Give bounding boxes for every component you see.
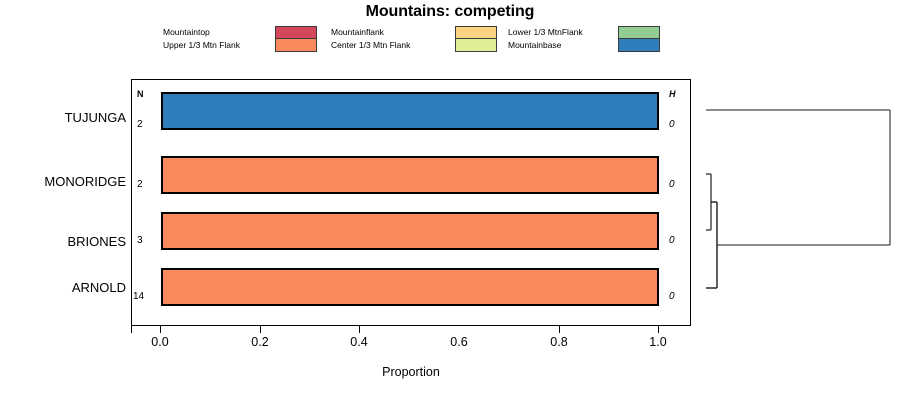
x-axis-tick-label: 0.2 xyxy=(230,335,290,349)
h-value-arnold: 0 xyxy=(669,291,675,302)
x-axis-tick xyxy=(359,326,360,333)
legend-swatch-group xyxy=(455,26,497,52)
h-value-briones: 0 xyxy=(669,235,675,246)
bar-row-briones xyxy=(132,212,692,250)
bar-arnold[interactable] xyxy=(161,268,659,306)
h-value-tujunga: 0 xyxy=(669,119,675,130)
h-column-header: H xyxy=(669,89,676,99)
x-axis-tick-label: 0.4 xyxy=(329,335,389,349)
h-value-monoridge: 0 xyxy=(669,179,675,190)
legend-swatch-mountaintop xyxy=(276,27,316,39)
legend-item-label: Mountainbase xyxy=(508,39,583,52)
legend-group: Mountaintop Upper 1/3 Mtn Flank xyxy=(163,26,323,56)
legend-item-label: Mountaintop xyxy=(163,26,240,39)
category-label-tujunga: TUJUNGA xyxy=(4,110,126,125)
category-label-arnold: ARNOLD xyxy=(4,280,126,295)
legend-item-label: Lower 1/3 MtnFlank xyxy=(508,26,583,39)
legend-group-labels: Mountaintop Upper 1/3 Mtn Flank xyxy=(163,26,240,52)
legend: Mountaintop Upper 1/3 Mtn Flank Mountain… xyxy=(163,26,683,58)
n-value-briones: 3 xyxy=(137,235,143,246)
legend-item-label: Center 1/3 Mtn Flank xyxy=(331,39,410,52)
legend-item-label: Mountainflank xyxy=(331,26,410,39)
x-axis-tick xyxy=(658,326,659,333)
page-title: Mountains: competing xyxy=(0,3,900,21)
bar-briones[interactable] xyxy=(161,212,659,250)
x-axis-tick xyxy=(260,326,261,333)
bar-row-monoridge xyxy=(132,156,692,194)
n-value-arnold: 14 xyxy=(133,291,144,302)
n-value-monoridge: 2 xyxy=(137,179,143,190)
x-axis-tick-label: 0.8 xyxy=(529,335,589,349)
legend-swatch-upper-third-mtn-flank xyxy=(276,39,316,51)
x-axis-tick-label: 1.0 xyxy=(628,335,688,349)
x-axis-tick-label: 0.0 xyxy=(130,335,190,349)
bar-row-arnold xyxy=(132,268,692,306)
n-value-tujunga: 2 xyxy=(137,119,143,130)
x-axis-tick xyxy=(131,326,132,333)
n-column-header: N xyxy=(137,89,144,99)
legend-swatch-lower-third-mtn-flank xyxy=(619,27,659,39)
bar-row-tujunga xyxy=(132,92,692,130)
x-axis-tick xyxy=(160,326,161,333)
x-axis-tick-label: 0.6 xyxy=(429,335,489,349)
legend-group: Lower 1/3 MtnFlank Mountainbase xyxy=(508,26,683,56)
dendrogram-svg xyxy=(700,79,900,326)
bar-tujunga[interactable] xyxy=(161,92,659,130)
legend-item-label: Upper 1/3 Mtn Flank xyxy=(163,39,240,52)
category-label-monoridge: MONORIDGE xyxy=(4,174,126,189)
bars-layer xyxy=(132,80,692,327)
category-label-briones: BRIONES xyxy=(4,234,126,249)
x-axis-tick xyxy=(559,326,560,333)
x-axis-title: Proportion xyxy=(131,365,691,379)
legend-swatch-group xyxy=(618,26,660,52)
legend-swatch-mountainflank xyxy=(456,27,496,39)
bar-monoridge[interactable] xyxy=(161,156,659,194)
x-axis: 0.0 0.2 0.4 0.6 0.8 1.0 xyxy=(131,326,691,366)
legend-group: Mountainflank Center 1/3 Mtn Flank xyxy=(331,26,501,56)
legend-swatch-center-third-mtn-flank xyxy=(456,39,496,51)
legend-group-labels: Mountainflank Center 1/3 Mtn Flank xyxy=(331,26,410,52)
legend-group-labels: Lower 1/3 MtnFlank Mountainbase xyxy=(508,26,583,52)
dendrogram xyxy=(700,79,900,326)
legend-swatch-group xyxy=(275,26,317,52)
legend-swatch-mountainbase xyxy=(619,39,659,51)
plot-area: N 2 2 3 14 H 0 0 0 0 xyxy=(131,79,691,326)
category-axis-labels: TUJUNGA MONORIDGE BRIONES ARNOLD xyxy=(0,79,126,326)
